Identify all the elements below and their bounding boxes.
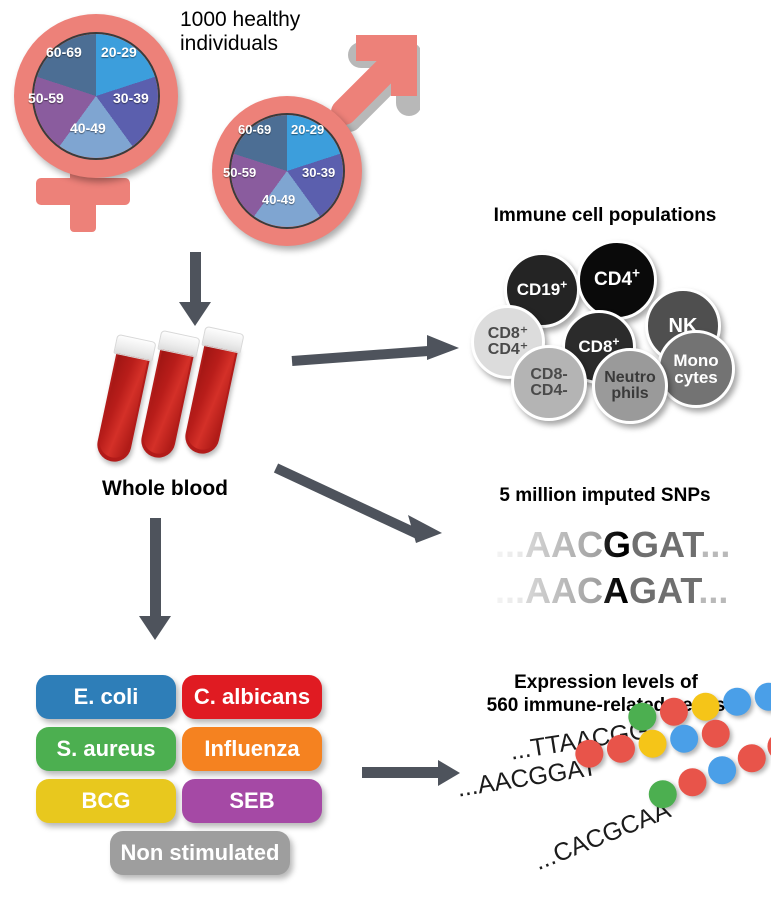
stimulus-bcg[interactable]: BCG	[36, 779, 176, 823]
male-age-label-50-59: 50-59	[223, 165, 256, 180]
snp-left-bases: AAC	[525, 570, 603, 611]
stimulus-label: Non stimulated	[121, 840, 280, 866]
stimulus-c-albicans[interactable]: C. albicans	[182, 675, 322, 719]
immune-cell-populations-title: Immune cell populations	[455, 205, 755, 228]
rna-bead	[704, 752, 740, 788]
stimulus-label: C. albicans	[194, 684, 310, 710]
female-age-label-40-49: 40-49	[70, 120, 106, 136]
arrow-head-icon	[179, 302, 211, 326]
snp-suffix-ellipsis: ...	[698, 570, 728, 611]
immune-cell-label: CD4+	[594, 270, 640, 289]
male-age-label-60-69: 60-69	[238, 122, 271, 137]
snp-variant-base: G	[603, 524, 631, 565]
snp-suffix-ellipsis: ...	[700, 524, 730, 565]
arrow-shaft	[190, 252, 201, 304]
rna-bead	[668, 723, 700, 755]
snp-right-bases: GAT	[629, 570, 698, 611]
male-age-label-20-29: 20-29	[291, 122, 324, 137]
female-age-label-30-39: 30-39	[113, 90, 149, 106]
male-age-label-40-49: 40-49	[262, 192, 295, 207]
snp-allele-g: ...AACGGAT...	[495, 524, 730, 566]
arrow-shaft	[150, 518, 161, 618]
arrow-shaft	[292, 345, 437, 366]
snps-title: 5 million imputed SNPs	[455, 485, 755, 508]
arrow-shaft	[274, 463, 419, 538]
stimulus-non-stimulated[interactable]: Non stimulated	[110, 831, 290, 875]
immune-cell-label: CD19+	[517, 281, 568, 298]
arrow-head-icon	[406, 513, 450, 557]
arrow-shaft	[362, 767, 440, 778]
snp-prefix-ellipsis: ...	[495, 570, 525, 611]
stimulus-s-aureus[interactable]: S. aureus	[36, 727, 176, 771]
rna-bead	[700, 718, 732, 750]
immune-cell-cd8-cd4-dn: CD8-CD4-	[511, 345, 587, 421]
stimulus-label: S. aureus	[56, 736, 155, 762]
female-cross-bar	[36, 178, 130, 205]
stimulus-label: Influenza	[204, 736, 299, 762]
stimulus-influenza[interactable]: Influenza	[182, 727, 322, 771]
immune-cell-label: Neutrophils	[604, 370, 656, 403]
female-age-label-60-69: 60-69	[46, 44, 82, 60]
immune-cell-label: CD8-CD4-	[530, 367, 567, 400]
immune-cell-cd4: CD4+	[577, 240, 657, 320]
immune-cell-label: Monocytes	[673, 352, 718, 387]
arrow-head-icon	[139, 616, 171, 640]
snp-right-bases: GAT	[631, 524, 700, 565]
female-age-label-50-59: 50-59	[28, 90, 64, 106]
rna-bead	[674, 764, 710, 800]
stimulus-e-coli[interactable]: E. coli	[36, 675, 176, 719]
male-age-label-30-39: 30-39	[302, 165, 335, 180]
snp-allele-a: ...AACAGAT...	[495, 570, 728, 612]
stimulus-label: SEB	[229, 788, 274, 814]
immune-cell-neutrophils: Neutrophils	[592, 348, 668, 424]
rna-bead	[734, 740, 770, 776]
whole-blood-label: Whole blood	[70, 476, 260, 501]
rna-sequence-text: ...CACGCAA	[530, 796, 675, 877]
immune-cell-label: CD8⁺CD4⁺	[488, 326, 528, 359]
female-age-label-20-29: 20-29	[101, 44, 137, 60]
figure-canvas: 1000 healthy individuals 20-29 30-39 40-…	[0, 0, 771, 922]
arrow-head-icon	[425, 330, 465, 370]
snp-left-bases: AAC	[525, 524, 603, 565]
snp-prefix-ellipsis: ...	[495, 524, 525, 565]
stimulus-label: E. coli	[74, 684, 139, 710]
expression-title-line1: Expression levels of	[448, 672, 764, 695]
immune-cell-monocytes: Monocytes	[657, 330, 735, 408]
stimulus-label: BCG	[82, 788, 131, 814]
snp-variant-base: A	[603, 570, 629, 611]
stimulus-seb[interactable]: SEB	[182, 779, 322, 823]
